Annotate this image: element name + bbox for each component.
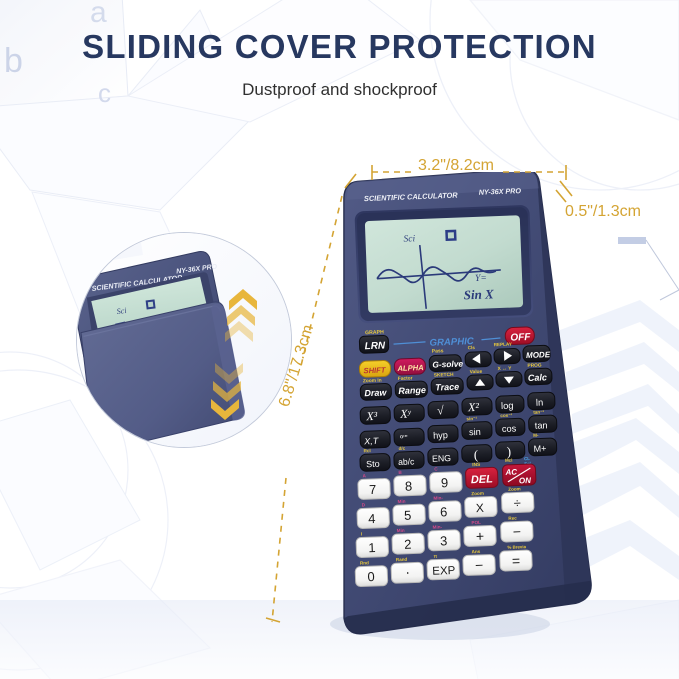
dimension-lines [0, 0, 679, 679]
dimension-depth-label: 0.5"/1.3cm [565, 203, 641, 221]
dimension-width-label: 3.2"/8.2cm [418, 157, 494, 175]
dim-line-depth [556, 181, 572, 202]
product-image-canvas: b a c [0, 0, 679, 679]
